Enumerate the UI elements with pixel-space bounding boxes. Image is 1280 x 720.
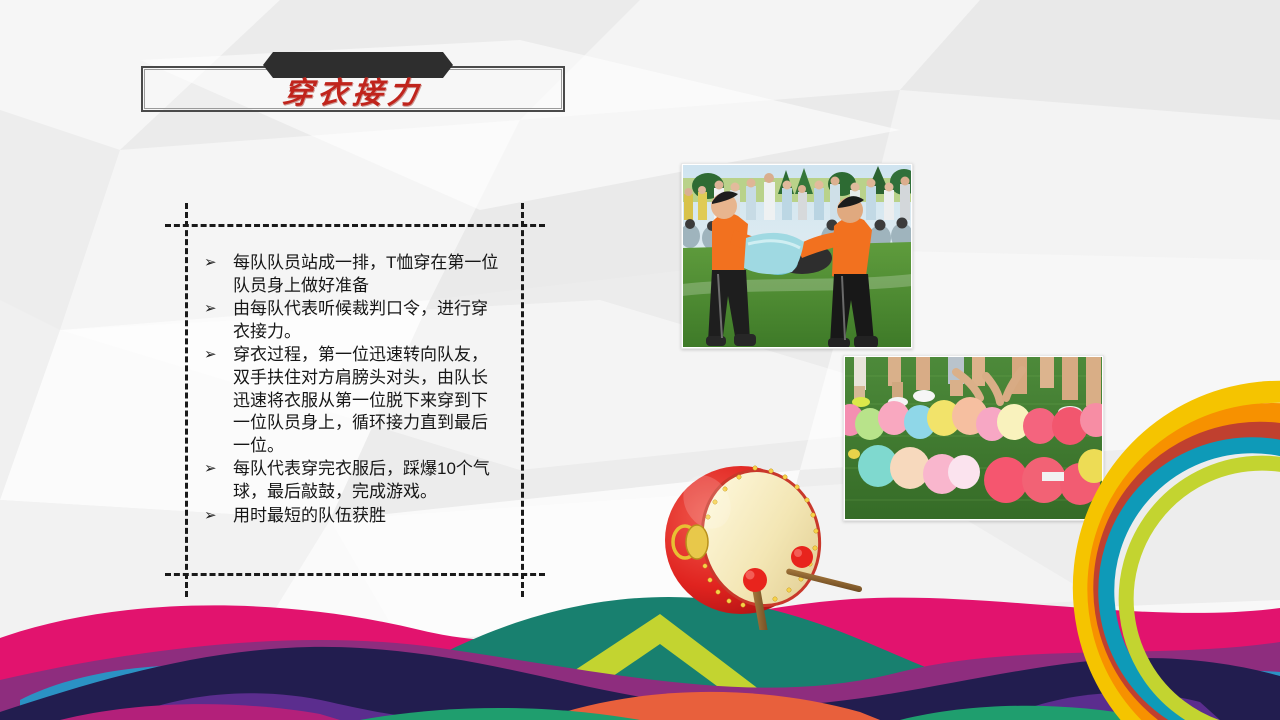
drum-illustration [645,440,865,630]
bullet-arrow-icon: ➢ [204,345,217,365]
list-item: ➢ 穿衣过程，第一位迅速转向队友，双手扶住对方肩膀头对头，由队长迅速将衣服从第一… [200,344,500,457]
list-item: ➢ 每队代表穿完衣服后，踩爆10个气球，最后敲鼓，完成游戏。 [200,458,500,503]
instruction-list: ➢ 每队队员站成一排，T恤穿在第一位队员身上做好准备 ➢ 由每队代表听候裁判口令… [200,252,500,528]
dashed-line-bottom [165,573,545,576]
title-banner: 穿衣接力 [141,52,571,120]
slide-root: 穿衣接力 ➢ 每队队员站成一排，T恤穿在第一位队员身上做好准备 ➢ 由每队代表听… [0,0,1280,720]
bullet-arrow-icon: ➢ [204,506,217,526]
balloons-photo-image [844,356,1103,520]
list-item: ➢ 每队队员站成一排，T恤穿在第一位队员身上做好准备 [200,252,500,297]
list-item: ➢ 用时最短的队伍获胜 [200,505,500,528]
list-item-text: 每队队员站成一排，T恤穿在第一位队员身上做好准备 [233,252,500,297]
relay-photo [681,163,913,349]
dashed-line-right [521,203,524,597]
list-item-text: 用时最短的队伍获胜 [233,505,500,528]
list-item-text: 穿衣过程，第一位迅速转向队友，双手扶住对方肩膀头对头，由队长迅速将衣服从第一位脱… [233,344,500,457]
list-item-text: 每队代表穿完衣服后，踩爆10个气球，最后敲鼓，完成游戏。 [233,458,500,503]
dashed-line-left [185,203,188,597]
relay-photo-image [682,164,912,348]
list-item: ➢ 由每队代表听候裁判口令，进行穿衣接力。 [200,298,500,343]
bullet-arrow-icon: ➢ [204,299,217,319]
page-title: 穿衣接力 [139,68,568,112]
balloons-photo [843,355,1104,521]
list-item-text: 由每队代表听候裁判口令，进行穿衣接力。 [233,298,500,343]
dashed-line-top [165,224,545,227]
bullet-arrow-icon: ➢ [204,459,217,479]
bullet-arrow-icon: ➢ [204,253,217,273]
